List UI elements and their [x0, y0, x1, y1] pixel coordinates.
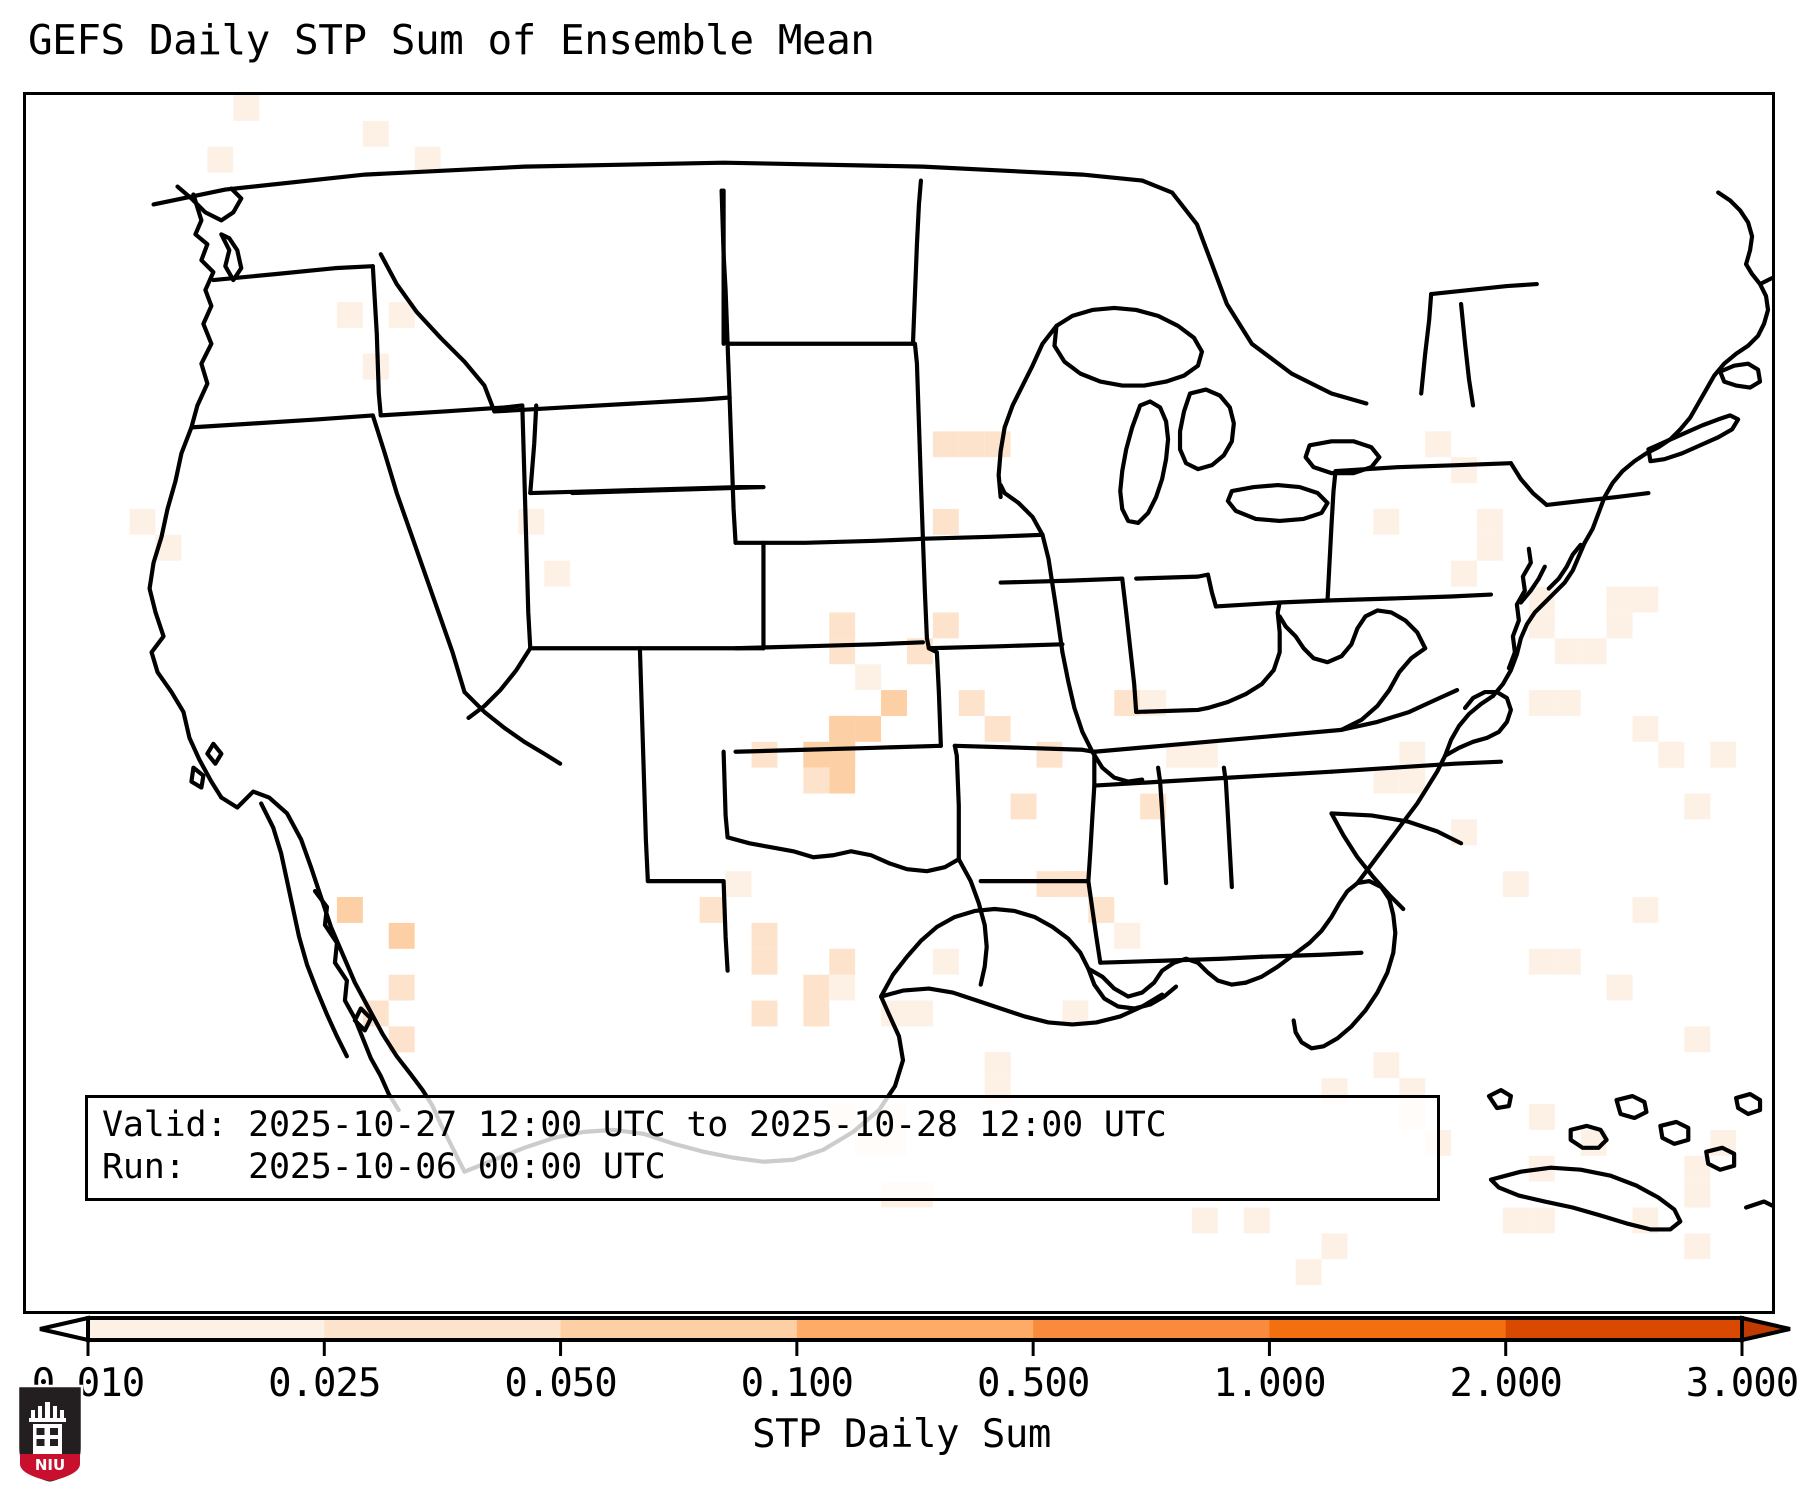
state-border-wy-ne-sd	[730, 398, 736, 543]
state-border-in-mi-oh	[1136, 575, 1208, 579]
yucatan-island	[1489, 1090, 1511, 1108]
state-border-pa-ny	[1328, 471, 1336, 600]
long-island	[1648, 415, 1738, 461]
state-border-ks-ok	[736, 746, 941, 752]
state-border-ga-fl	[1262, 953, 1362, 957]
state-border-oh-wv-ky	[1208, 602, 1280, 707]
state-border-sc-ga	[1332, 813, 1404, 909]
colorbar-segment	[324, 1318, 561, 1340]
logo-text: NIU	[35, 1456, 65, 1474]
state-border-la-ms-coast	[1088, 881, 1100, 963]
baja-island-2	[207, 744, 221, 764]
state-border-il-in	[1122, 579, 1136, 712]
state-border-va-wv	[1280, 610, 1426, 662]
state-border-or-ca-nv	[191, 415, 372, 427]
state-border-ny-ct-ma	[1511, 463, 1547, 505]
colorbar-over-arrow	[1742, 1318, 1790, 1340]
state-border-ma-ct-ri	[1547, 493, 1649, 505]
colorbar-tick-label: 0.500	[977, 1361, 1089, 1406]
state-border-az-nm	[640, 648, 648, 881]
state-border-in-oh	[1136, 708, 1208, 712]
bahamas-4	[1706, 1148, 1734, 1170]
coastline-chesapeake	[1493, 543, 1585, 696]
state-border-ca-nv-diag	[373, 415, 465, 692]
state-border-nd-mn	[913, 181, 921, 344]
colorbar: 0.0100.0250.0500.1000.5001.0002.0003.000	[0, 1315, 1803, 1405]
colorbar-under-arrow	[40, 1318, 88, 1340]
valid-time-line: Valid: 2025-10-27 12:00 UTC to 2025-10-2…	[102, 1105, 1166, 1145]
state-border-ia-il-mo	[1043, 535, 1063, 652]
state-border-ok-tx-panhandle	[724, 752, 728, 838]
state-border-mi-oh	[1208, 575, 1216, 607]
state-border-ar-ms	[1088, 752, 1094, 881]
colorbar-tick-label: 0.025	[268, 1361, 380, 1406]
state-border-mo-ar	[955, 746, 1095, 752]
state-border-sd-ne	[736, 539, 923, 543]
coastline-maine	[1718, 193, 1752, 265]
state-border-ky-wv-va	[1341, 648, 1425, 730]
state-border-sd-mn-ia	[915, 344, 923, 539]
colorbar-segment	[1033, 1318, 1270, 1340]
colorbar-tick-label: 0.050	[504, 1361, 616, 1406]
lake-huron	[1180, 390, 1234, 470]
puget-sound	[221, 234, 241, 280]
state-border-ne-ia-mo	[923, 539, 929, 648]
state-border-ia-wi	[1001, 485, 1043, 535]
border-us-canada	[154, 163, 1143, 205]
coastline-florida	[1246, 881, 1395, 1048]
niu-logo: NIU	[14, 1382, 86, 1486]
coastline-pacific-northwest	[150, 195, 222, 798]
state-border-nm-tx-south	[648, 881, 728, 971]
colorbar-segment	[1506, 1318, 1743, 1340]
state-border-ut-wy	[530, 405, 536, 493]
state-border-va-nc	[1332, 762, 1501, 772]
state-border-gulf-ms-al-fl	[1100, 957, 1261, 963]
hispaniola-edge	[1746, 1202, 1772, 1208]
state-border-vt-nh	[1461, 304, 1473, 405]
colorbar-segment	[88, 1318, 325, 1340]
bahamas-5	[1736, 1094, 1760, 1114]
coastline-newengland	[1680, 264, 1768, 429]
colorbar-tick-label: 3.000	[1686, 1361, 1798, 1406]
bahamas-1	[1571, 1126, 1607, 1148]
state-border-ny-pa-nj	[1336, 463, 1511, 471]
coastline-newjersey-newyork	[1585, 429, 1681, 542]
colorbar-segment	[1269, 1318, 1506, 1340]
state-border-wi-il	[1001, 579, 1123, 583]
state-border-il-mo-ky	[1062, 652, 1142, 781]
colorbar-tick-label: 2.000	[1450, 1361, 1562, 1406]
state-border-tx-la	[959, 859, 987, 984]
colorbar-tick-label: 1.000	[1213, 1361, 1325, 1406]
state-border-ky-tn	[1094, 730, 1341, 752]
colorbar-segment	[797, 1318, 1034, 1340]
run-time-line: Run: 2025-10-06 00:00 UTC	[102, 1147, 666, 1187]
colorbar-tick-label: 0.100	[741, 1361, 853, 1406]
state-border-ok-ar	[955, 746, 959, 859]
state-border-oh-pa	[1216, 601, 1328, 607]
cape-cod	[1720, 364, 1760, 388]
state-border-ca-az	[464, 692, 560, 764]
baja-island-1	[191, 768, 203, 788]
colorbar-axis-label: STP Daily Sum	[0, 1412, 1803, 1457]
baja-peninsula-east	[315, 891, 399, 1110]
coastline-carolina	[1445, 692, 1511, 756]
state-border-tn-nc	[1341, 690, 1457, 730]
state-border-ne-states	[1431, 284, 1537, 294]
page-title: GEFS Daily STP Sum of Ensemble Mean	[28, 16, 874, 64]
colorbar-segment	[561, 1318, 798, 1340]
state-border-nv-ut	[522, 405, 530, 648]
state-border-wa-id	[373, 266, 381, 415]
bahamas-2	[1617, 1096, 1647, 1118]
state-border-ny-vt-nh	[1421, 294, 1431, 394]
state-border-ms-al	[1158, 768, 1166, 883]
cuba	[1491, 1168, 1680, 1230]
state-border-mn-wi	[999, 326, 1057, 497]
colorbar-swatches	[0, 1315, 1803, 1365]
state-border-ok-tx-redriver	[728, 837, 959, 871]
nova-scotia-approach	[1760, 278, 1772, 284]
state-border-mn-ia	[921, 535, 1043, 539]
border-canada-east	[1142, 181, 1366, 404]
state-border-tn-ms-al-ga	[1094, 772, 1331, 786]
state-border-mt-wy	[494, 398, 729, 412]
state-border-al-ga	[1224, 768, 1232, 887]
bahamas-3	[1660, 1122, 1688, 1144]
state-border-pa-md-va	[1328, 595, 1491, 601]
info-box: Valid: 2025-10-27 12:00 UTC to 2025-10-2…	[85, 1095, 1440, 1201]
lake-michigan	[1120, 401, 1168, 522]
state-border-ks-mo	[929, 648, 941, 746]
state-border-id-mt	[381, 254, 495, 411]
coastline-southeast	[1357, 696, 1493, 883]
lake-erie	[1228, 485, 1328, 521]
map-plot-frame: Valid: 2025-10-27 12:00 UTC to 2025-10-2…	[23, 92, 1775, 1314]
state-border-ia-mo	[929, 644, 1063, 648]
lake-superior	[1054, 308, 1201, 386]
